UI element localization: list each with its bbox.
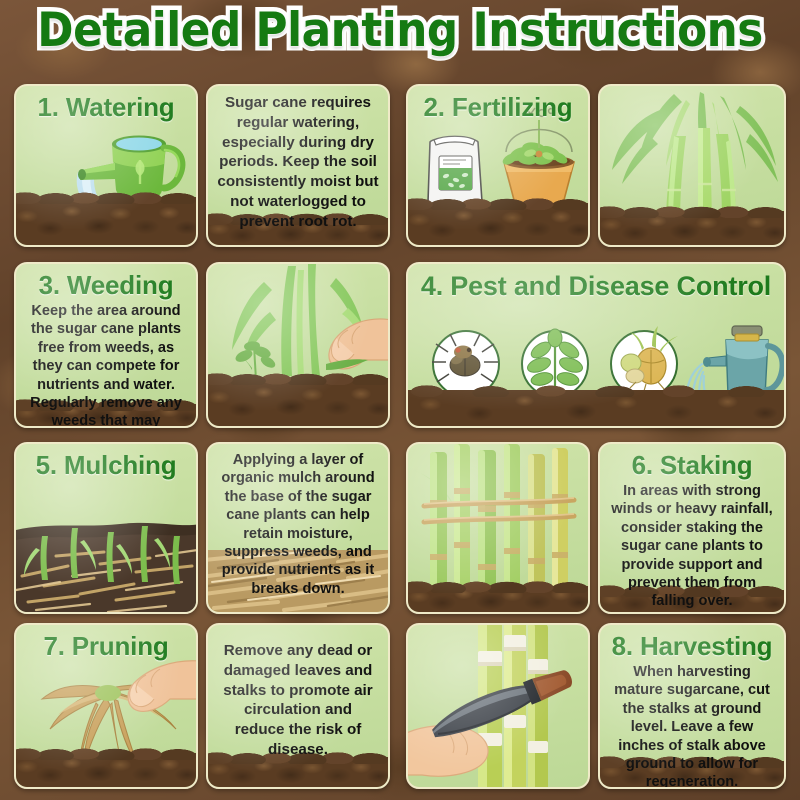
card-step-5-mulching: 5. Mulching [14, 442, 198, 614]
card-step-2-photo [598, 84, 786, 247]
step-3-text: Keep the area around the sugar cane plan… [16, 300, 196, 428]
step-6-heading: 6. Staking [600, 444, 784, 480]
card-step-4-pest-and-disease-control: 4. Pest and Disease Control [406, 262, 786, 428]
step-4-heading: 4. Pest and Disease Control [408, 264, 784, 301]
infographic-poster: Detailed Planting Instructions 1. Wateri… [0, 0, 800, 800]
step-7-heading: 7. Pruning [16, 625, 196, 661]
harvest-knife-photo [408, 625, 588, 787]
step-8-heading: 8. Harvesting [600, 625, 784, 661]
poster-title-area: Detailed Planting Instructions [0, 6, 800, 56]
step-5-text: Applying a layer of organic mulch around… [208, 444, 388, 598]
card-step-3-photo [206, 262, 390, 428]
step-1-heading: 1. Watering [16, 86, 196, 122]
card-step-8-harvesting: 8. Harvesting When harvesting mature sug… [598, 623, 786, 789]
soil-strip [208, 757, 388, 787]
step-2-heading: 2. Fertilizing [408, 86, 588, 122]
step-3-heading: 3. Weeding [16, 264, 196, 300]
card-step-1-text: Sugar cane requires regular watering, es… [206, 84, 390, 247]
step-8-text: When harvesting mature sugarcane, cut th… [600, 661, 784, 789]
card-step-6-photo [406, 442, 590, 614]
card-step-8-photo [406, 623, 590, 789]
card-step-1-watering: 1. Watering [14, 84, 198, 247]
card-step-7-pruning: 7. Pruning [14, 623, 198, 789]
card-step-2-fertilizing: 2. Fertilizing [406, 84, 590, 247]
soil-strip [16, 753, 196, 787]
soil-strip [408, 586, 588, 612]
step-7-text: Remove any dead or damaged leaves and st… [208, 625, 388, 760]
card-step-5-text: Applying a layer of organic mulch around… [206, 442, 390, 614]
card-step-6-staking: 6. Staking In areas with strong winds or… [598, 442, 786, 614]
step-6-text: In areas with strong winds or heavy rain… [600, 480, 784, 611]
soil-strip [208, 378, 388, 426]
soil-strip [408, 390, 784, 426]
soil-strip [16, 197, 196, 245]
step-5-heading: 5. Mulching [16, 444, 196, 480]
soil-strip [600, 211, 784, 245]
soil-strip [408, 203, 588, 245]
poster-title: Detailed Planting Instructions [37, 6, 763, 56]
card-step-7-text: Remove any dead or damaged leaves and st… [206, 623, 390, 789]
step-1-text: Sugar cane requires regular watering, es… [208, 86, 388, 231]
card-step-3-weeding: 3. Weeding Keep the area around the suga… [14, 262, 198, 428]
